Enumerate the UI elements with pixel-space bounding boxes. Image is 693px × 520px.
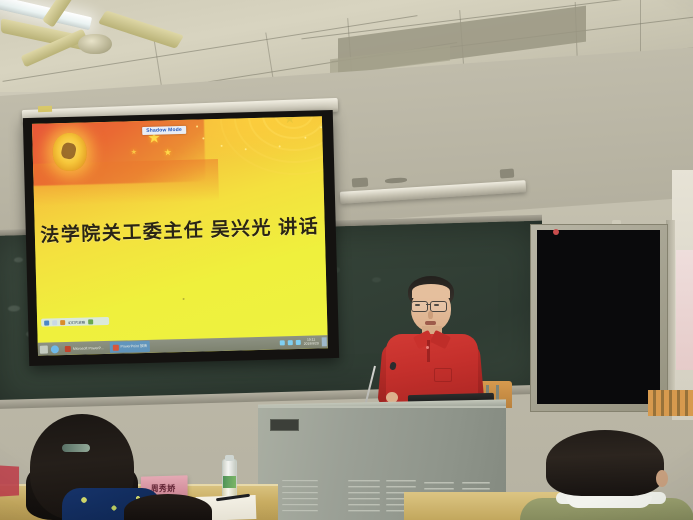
panel-indicator-dot (553, 229, 559, 235)
far-right-pink-wall (676, 250, 693, 370)
taskbar-item-slideshow[interactable]: PowerPoint 放映 (109, 341, 150, 353)
audience-member-man (546, 430, 664, 496)
flag-star-icon: ★ (164, 148, 172, 157)
light-bracket (352, 177, 369, 187)
speaker-forehead (412, 284, 450, 298)
taskbar-item-label: PowerPoint 放映 (120, 344, 147, 350)
wooden-chair-right (648, 390, 693, 416)
eraser-icon[interactable] (88, 319, 93, 324)
taskbar-item-label: Microsoft PowerP... (73, 346, 104, 351)
podium-label-plate (270, 419, 299, 431)
hair-clip (62, 444, 90, 452)
ime-icon[interactable] (280, 340, 285, 345)
ppt-toolbar-label: 幻灯片放映 (68, 319, 85, 324)
water-bottle (222, 459, 237, 499)
light-bracket (500, 169, 515, 179)
classroom-photo: ★ ★ ★ ★ (0, 0, 693, 520)
show-desktop-button[interactable] (322, 337, 327, 346)
volume-icon[interactable] (296, 340, 301, 345)
shirt-pocket (434, 368, 452, 382)
red-placard (0, 465, 19, 496)
glasses-icon (430, 301, 447, 312)
bottle-cap (225, 455, 234, 461)
shirt-button (426, 346, 429, 349)
tray-clock[interactable]: 15:11 2019/9/20 (304, 338, 319, 346)
screen-surface: ★ ★ ★ ★ (32, 116, 328, 356)
pen-icon[interactable] (44, 320, 49, 325)
panel-surface (537, 230, 660, 404)
glasses-icon (411, 301, 428, 312)
audience-man-ear (656, 470, 668, 487)
dark-display-panel (530, 224, 668, 412)
browser-icon[interactable] (51, 345, 59, 353)
ring-sparkles (191, 116, 327, 159)
projection-screen: ★ ★ ★ ★ (23, 110, 339, 366)
powerpoint-slideshow-toolbar[interactable]: 幻灯片放映 (41, 317, 109, 327)
network-icon[interactable] (288, 340, 293, 345)
pointer-icon[interactable] (52, 320, 57, 325)
tray-date: 2019/9/20 (304, 342, 319, 346)
taskbar-item-powerpoint[interactable]: Microsoft PowerP... (62, 342, 107, 354)
slide-title-text: 法学院关工委主任 吴兴光 讲话 (35, 211, 326, 248)
shirt-placket (427, 340, 430, 362)
highlighter-icon[interactable] (60, 320, 65, 325)
start-button[interactable] (40, 345, 48, 353)
screen-housing-tab (38, 106, 52, 113)
ceiling-fan-hub (78, 34, 112, 54)
audience-man-collar-front (566, 496, 652, 508)
bottle-label (223, 476, 236, 488)
powerpoint-slide: ★ ★ ★ ★ (32, 116, 328, 343)
shadow-mode-badge: Shadow Mode (142, 126, 186, 135)
slide-speck (183, 298, 185, 300)
flag-star-icon: ★ (131, 149, 137, 156)
powerpoint-icon (112, 344, 118, 350)
speaker-mouth (425, 321, 436, 325)
audience-member-student (124, 494, 212, 520)
powerpoint-icon (65, 345, 71, 351)
speaker-nose (428, 311, 433, 319)
glasses-bridge (426, 304, 431, 305)
system-tray[interactable]: 15:11 2019/9/20 (280, 337, 328, 347)
